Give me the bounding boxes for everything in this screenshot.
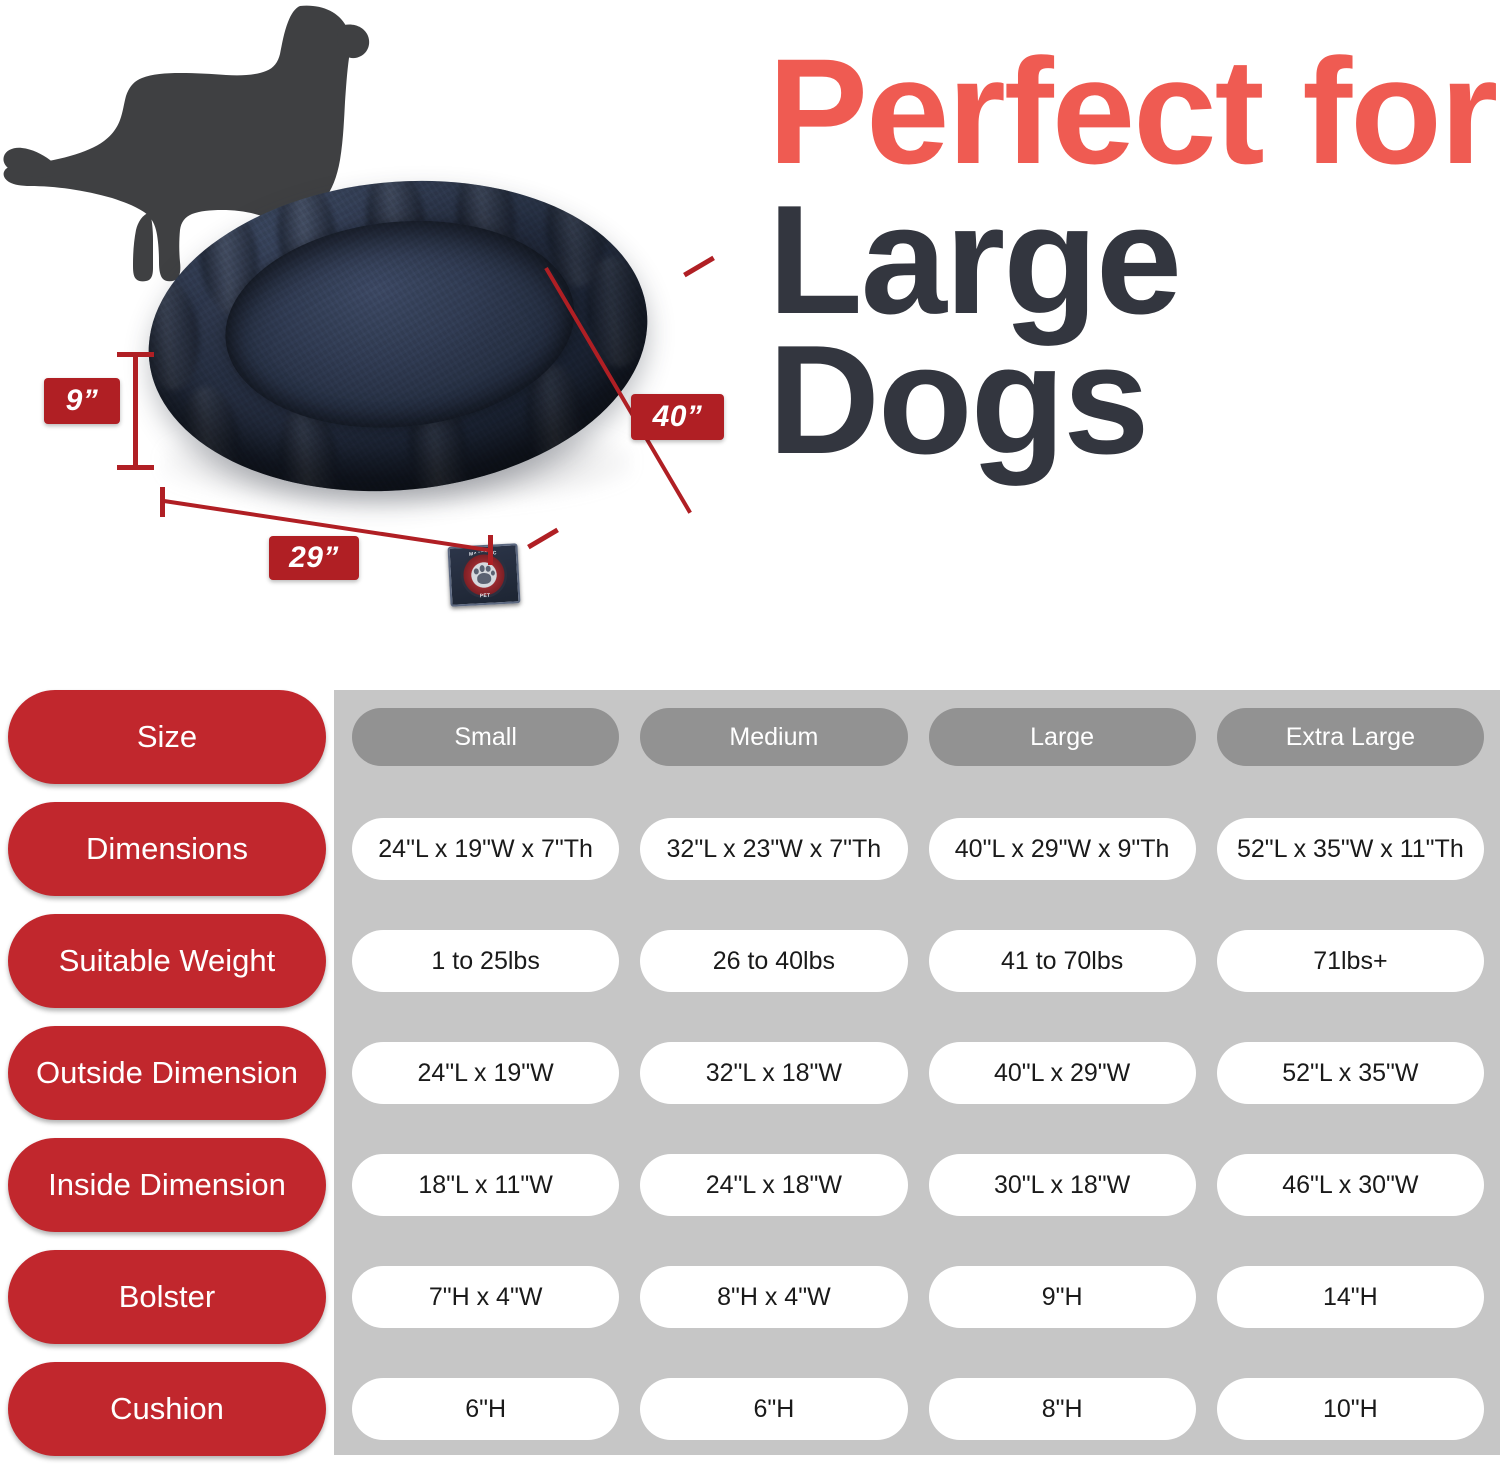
table-cell: 14"H bbox=[1217, 1266, 1484, 1328]
dimension-callout-width: 29” bbox=[269, 536, 359, 580]
column-header-extra-large: Extra Large bbox=[1217, 708, 1484, 766]
table-cell: 26 to 40lbs bbox=[640, 930, 907, 992]
table-cell: 18"L x 11"W bbox=[352, 1154, 619, 1216]
table-cell: 8"H bbox=[929, 1378, 1196, 1440]
headline-line-large: Large bbox=[768, 188, 1488, 332]
height-measure-cap-bottom bbox=[117, 465, 154, 470]
dimension-callout-height: 9” bbox=[44, 378, 120, 424]
length-measure-line bbox=[544, 267, 692, 514]
paw-print-icon bbox=[472, 564, 495, 585]
row-label-outside-dimension: Outside Dimension bbox=[8, 1026, 326, 1120]
row-label-bolster: Bolster bbox=[8, 1250, 326, 1344]
row-label-dimensions: Dimensions bbox=[8, 802, 326, 896]
width-measure-cap-left bbox=[160, 487, 165, 517]
row-label-cushion: Cushion bbox=[8, 1362, 326, 1456]
table-cell: 8"H x 4"W bbox=[640, 1266, 907, 1328]
length-measure-cap-bottom bbox=[527, 528, 559, 550]
table-row-label-column: SizeDimensionsSuitable WeightOutside Dim… bbox=[8, 690, 326, 1474]
brand-tag-bottom-text: PET bbox=[480, 593, 491, 600]
table-cell: 71lbs+ bbox=[1217, 930, 1484, 992]
specification-table: SizeDimensionsSuitable WeightOutside Dim… bbox=[0, 690, 1500, 1463]
table-cell: 32"L x 18"W bbox=[640, 1042, 907, 1104]
table-cell: 24"L x 19"W x 7"Th bbox=[352, 818, 619, 880]
headline-line-dogs: Dogs bbox=[768, 328, 1488, 472]
column-header-medium: Medium bbox=[640, 708, 907, 766]
table-row: 24"L x 19"W32"L x 18"W40"L x 29"W52"L x … bbox=[352, 1026, 1484, 1120]
height-measure-cap-top bbox=[117, 352, 154, 357]
table-cell: 6"H bbox=[352, 1378, 619, 1440]
row-label-inside-dimension: Inside Dimension bbox=[8, 1138, 326, 1232]
dimension-callout-length: 40” bbox=[631, 394, 724, 440]
table-cell: 40"L x 29"W bbox=[929, 1042, 1196, 1104]
table-cell: 52"L x 35"W x 11"Th bbox=[1217, 818, 1484, 880]
table-header-row: SmallMediumLargeExtra Large bbox=[352, 690, 1484, 784]
table-cell: 41 to 70lbs bbox=[929, 930, 1196, 992]
table-row: 18"L x 11"W24"L x 18"W30"L x 18"W46"L x … bbox=[352, 1138, 1484, 1232]
table-cell: 1 to 25lbs bbox=[352, 930, 619, 992]
table-row: 24"L x 19"W x 7"Th32"L x 23"W x 7"Th40"L… bbox=[352, 802, 1484, 896]
table-cell: 7"H x 4"W bbox=[352, 1266, 619, 1328]
column-header-small: Small bbox=[352, 708, 619, 766]
row-label-size: Size bbox=[8, 690, 326, 784]
table-cell: 10"H bbox=[1217, 1378, 1484, 1440]
headline-line-perfect-for: Perfect for bbox=[768, 42, 1488, 182]
headline-block: Perfect for Large Dogs bbox=[768, 42, 1488, 472]
table-row: 6"H6"H8"H10"H bbox=[352, 1362, 1484, 1456]
table-cell: 40"L x 29"W x 9"Th bbox=[929, 818, 1196, 880]
column-header-large: Large bbox=[929, 708, 1196, 766]
table-cell: 46"L x 30"W bbox=[1217, 1154, 1484, 1216]
table-value-grid: SmallMediumLargeExtra Large24"L x 19"W x… bbox=[352, 690, 1484, 1474]
hero-section: MAJESTIC PET 9” 29” 40” bbox=[0, 0, 1500, 690]
table-row: 7"H x 4"W8"H x 4"W9"H14"H bbox=[352, 1250, 1484, 1344]
height-measure-line bbox=[133, 352, 138, 470]
paw-logo-ring bbox=[460, 551, 508, 599]
table-cell: 24"L x 18"W bbox=[640, 1154, 907, 1216]
length-measure-cap-top bbox=[683, 256, 715, 278]
table-cell: 9"H bbox=[929, 1266, 1196, 1328]
table-cell: 52"L x 35"W bbox=[1217, 1042, 1484, 1104]
row-label-suitable-weight: Suitable Weight bbox=[8, 914, 326, 1008]
table-cell: 30"L x 18"W bbox=[929, 1154, 1196, 1216]
table-cell: 24"L x 19"W bbox=[352, 1042, 619, 1104]
table-row: 1 to 25lbs26 to 40lbs41 to 70lbs71lbs+ bbox=[352, 914, 1484, 1008]
table-cell: 6"H bbox=[640, 1378, 907, 1440]
table-cell: 32"L x 23"W x 7"Th bbox=[640, 818, 907, 880]
width-measure-cap-right bbox=[488, 535, 493, 565]
